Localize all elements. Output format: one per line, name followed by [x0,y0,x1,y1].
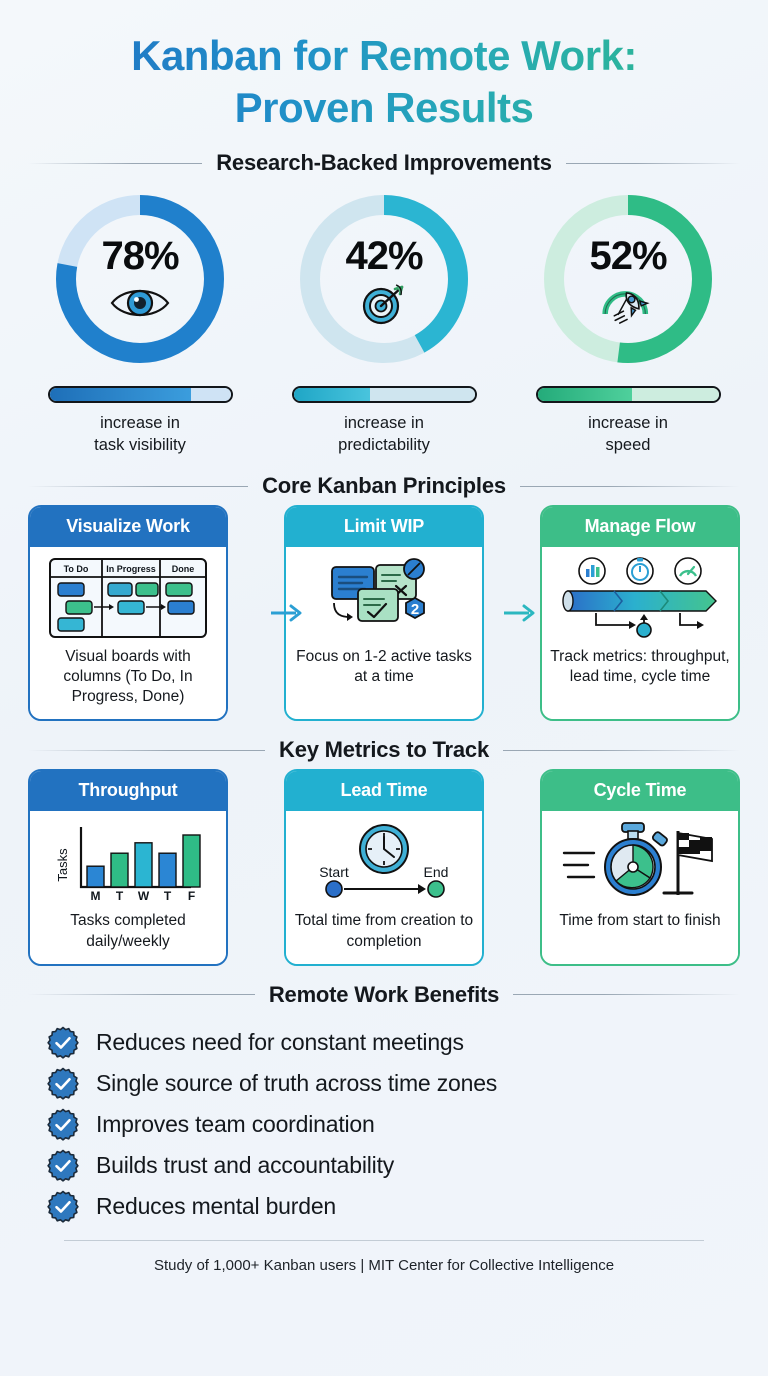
target-icon [352,281,416,325]
card-header: Limit WIP [286,507,482,547]
stat-label-line-2: speed [606,436,651,454]
stat-label-line-1: increase in [588,414,668,432]
card-body: Tasks MTWTF Tasks completed daily/weekly [30,811,226,963]
benefit-item: Improves team coordination [46,1108,744,1142]
flow-arrow-icon [503,602,537,624]
benefit-item: Builds trust and accountability [46,1149,744,1183]
card-body: Time from start to finish [542,811,738,963]
card-body: To Do In Progress Done Visual boards wit… [30,547,226,719]
donut-wrap: 78% [47,186,233,372]
kanban-col-2: Done [172,564,195,574]
stat-value: 42% [345,234,422,279]
stat-card: 42% increase in predictability [276,186,492,457]
benefit-item: Reduces need for constant meetings [46,1026,744,1060]
benefit-item: Reduces mental burden [46,1190,744,1224]
stat-label: increase in predictability [338,413,430,457]
flow-pipeline-art [560,557,720,639]
card-header: Cycle Time [542,771,738,811]
section-header-metrics: Key Metrics to Track [28,737,740,763]
bar-4 [183,835,200,887]
donut-wrap: 52% [535,186,721,372]
benefit-label: Builds trust and accountability [96,1152,394,1179]
section-header-benefits: Remote Work Benefits [28,982,740,1008]
wip-limit-value: 2 [411,601,419,618]
bar-label-3: T [163,889,171,903]
card-body: Track metrics: throughput, lead time, cy… [542,547,738,719]
divider-left [28,750,265,751]
donut-center: 78% [47,186,233,372]
check-badge-icon [46,1026,80,1060]
check-badge-icon [46,1190,80,1224]
metric-card[interactable]: Throughput Tasks MTWTF Tasks completed d… [28,769,228,965]
divider-left [28,994,255,995]
card-illustration [560,557,720,639]
card-illustration: To Do In Progress Done [48,557,208,639]
progress-bar [536,386,721,403]
check-badge-icon [46,1067,80,1101]
bar-label-4: F [187,889,194,903]
footer-source: Study of 1,000+ Kanban users | MIT Cente… [24,1257,744,1274]
benefit-label: Single source of truth across time zones [96,1070,497,1097]
card-header: Lead Time [286,771,482,811]
start-label: Start [319,864,349,880]
divider-left [28,486,248,487]
section-header-principles: Core Kanban Principles [28,473,740,499]
flow-arrow-icon [270,602,304,624]
card-body: Start End Total time from creation to co… [286,811,482,963]
section-title: Core Kanban Principles [262,473,506,499]
card-description: Visual boards with columns (To Do, In Pr… [38,647,218,707]
stopwatch-flag-art [560,821,720,903]
stats-row: 78% increase in task visibility 42% [24,182,744,457]
stat-card: 52% increase in speed [520,186,736,457]
clock-timeline-art: Start End [304,821,464,903]
progress-fill [50,388,191,401]
card-body: 2 Focus on 1-2 active tasks at a time [286,547,482,719]
divider-right [503,750,740,751]
check-badge-icon [46,1067,80,1101]
bar-label-0: M [90,889,100,903]
card-description: Focus on 1-2 active tasks at a time [294,647,474,687]
footer-divider [64,1240,704,1241]
metrics-row: Throughput Tasks MTWTF Tasks completed d… [24,769,744,965]
stat-label-line-1: increase in [344,414,424,432]
page-title: Kanban for Remote Work: Proven Results [24,0,744,134]
benefits-list: Reduces need for constant meetings Singl… [24,1014,744,1224]
check-badge-icon [46,1108,80,1142]
stat-label: increase in speed [588,413,668,457]
bar-0 [87,867,104,888]
donut-center: 52% [535,186,721,372]
eye-icon [108,281,172,325]
title-line-2: Proven Results [24,82,744,134]
stat-value: 52% [589,234,666,279]
principle-card[interactable]: Limit WIP 2 Focus on 1-2 active tasks at… [284,505,484,721]
progress-fill [294,388,370,401]
infographic-page: Kanban for Remote Work: Proven Results R… [0,0,768,1376]
stat-label-line-1: increase in [100,414,180,432]
stat-value: 78% [101,234,178,279]
stat-label-line-2: predictability [338,436,430,454]
card-illustration: 2 [318,557,450,639]
section-title: Key Metrics to Track [279,737,489,763]
check-badge-icon [46,1149,80,1183]
bar-label-1: T [115,889,123,903]
card-illustration [560,821,720,903]
card-description: Track metrics: throughput, lead time, cy… [550,647,730,687]
rocket-icon [596,281,660,325]
divider-right [513,994,740,995]
kanban-col-1: In Progress [106,564,156,574]
y-axis-label: Tasks [55,848,70,882]
progress-fill [538,388,632,401]
end-label: End [424,864,449,880]
card-header: Throughput [30,771,226,811]
metric-card[interactable]: Cycle Time Time from start to finish [540,769,740,965]
stat-card: 78% increase in task visibility [32,186,248,457]
stat-label: increase in task visibility [94,413,186,457]
benefit-item: Single source of truth across time zones [46,1067,744,1101]
check-badge-icon [46,1190,80,1224]
divider-right [520,486,740,487]
progress-bar [292,386,477,403]
divider-right [566,163,740,164]
stat-label-line-2: task visibility [94,436,186,454]
card-header: Visualize Work [30,507,226,547]
principles-row: Visualize Work To Do In Progress Done Vi… [24,505,744,721]
kanban-board-art: To Do In Progress Done [48,557,208,639]
principle-card[interactable]: Manage Flow Track metrics: throughput, l… [540,505,740,721]
card-description: Total time from creation to completion [294,911,474,951]
kanban-col-0: To Do [64,564,89,574]
check-badge-icon [46,1026,80,1060]
bar-3 [159,854,176,888]
progress-bar [48,386,233,403]
principle-card[interactable]: Visualize Work To Do In Progress Done Vi… [28,505,228,721]
card-description: Time from start to finish [559,911,720,931]
card-illustration: Start End [304,821,464,903]
divider-left [28,163,202,164]
bar-2 [135,843,152,887]
section-header-improvements: Research-Backed Improvements [28,150,740,176]
check-badge-icon [46,1149,80,1183]
card-header: Manage Flow [542,507,738,547]
donut-wrap: 42% [291,186,477,372]
donut-center: 42% [291,186,477,372]
card-description: Tasks completed daily/weekly [38,911,218,951]
bar-label-2: W [137,889,149,903]
card-illustration: Tasks MTWTF [51,821,206,903]
check-badge-icon [46,1108,80,1142]
wip-cards-art: 2 [318,557,450,639]
section-title: Research-Backed Improvements [216,150,552,176]
bar-1 [111,854,128,888]
benefit-label: Reduces need for constant meetings [96,1029,464,1056]
bar-chart-art: Tasks MTWTF [51,821,206,903]
benefit-label: Reduces mental burden [96,1193,336,1220]
title-line-1: Kanban for Remote Work: [131,32,637,79]
benefit-label: Improves team coordination [96,1111,375,1138]
metric-card[interactable]: Lead Time Start End Total time from crea… [284,769,484,965]
section-title: Remote Work Benefits [269,982,499,1008]
